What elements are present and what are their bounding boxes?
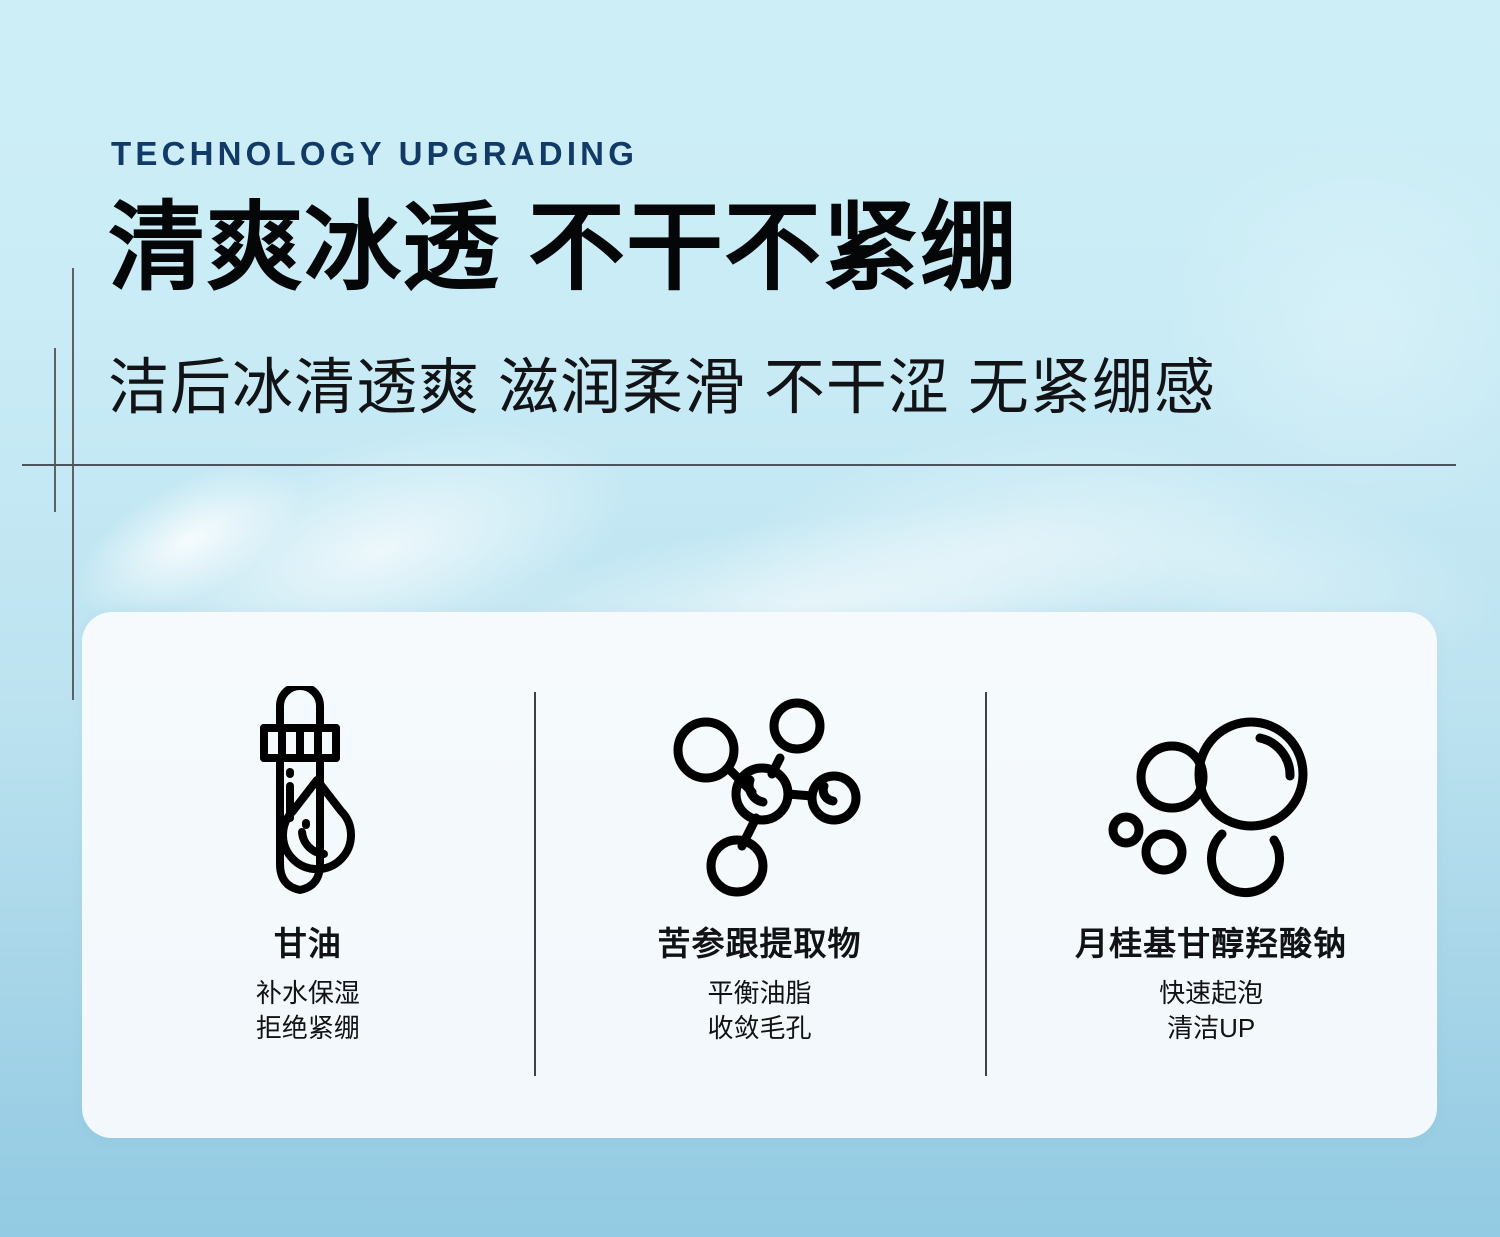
ingredient-desc-line1: 补水保湿 [256, 976, 360, 1012]
ingredient-desc-line1: 快速起泡 [1159, 976, 1263, 1012]
ingredient-desc: 平衡油脂 收敛毛孔 [708, 976, 812, 1048]
eyebrow-text: TECHNOLOGY UPGRADING [111, 137, 638, 170]
ingredient-desc-line2: 收敛毛孔 [708, 1011, 812, 1047]
decorative-horizontal-rule [22, 464, 1456, 466]
ingredients-card: 甘油 补水保湿 拒绝紧绷 [82, 612, 1437, 1138]
bubbles-icon [1096, 686, 1326, 902]
ingredient-name: 月桂基甘醇羟酸钠 [1075, 924, 1347, 964]
page-title: 清爽冰透 不干不紧绷 [108, 196, 1018, 301]
ingredient-desc-line1: 平衡油脂 [708, 976, 812, 1012]
ingredient-desc: 补水保湿 拒绝紧绷 [256, 976, 360, 1048]
ingredient-name: 甘油 [274, 924, 342, 964]
ingredient-column-sophora: 苦参跟提取物 平衡油脂 收敛毛孔 [534, 612, 986, 1138]
ingredient-column-glycerin: 甘油 补水保湿 拒绝紧绷 [82, 612, 534, 1138]
light-glow [1150, 120, 1500, 540]
ingredient-desc: 快速起泡 清洁UP [1159, 976, 1263, 1048]
ingredient-column-surfactant: 月桂基甘醇羟酸钠 快速起泡 清洁UP [985, 612, 1437, 1138]
ingredient-desc-line2: 拒绝紧绷 [256, 1011, 360, 1047]
decorative-vertical-rule-short [54, 348, 56, 512]
dropper-droplet-icon [233, 686, 383, 902]
decorative-vertical-rule-long [72, 268, 74, 700]
molecule-icon [652, 686, 868, 902]
page-subtitle: 洁后冰清透爽 滋润柔滑 不干涩 无紧绷感 [108, 354, 1216, 421]
ingredient-name: 苦参跟提取物 [658, 924, 862, 964]
promo-banner: TECHNOLOGY UPGRADING 清爽冰透 不干不紧绷 洁后冰清透爽 滋… [0, 0, 1500, 1237]
ingredient-desc-line2: 清洁UP [1159, 1011, 1263, 1047]
